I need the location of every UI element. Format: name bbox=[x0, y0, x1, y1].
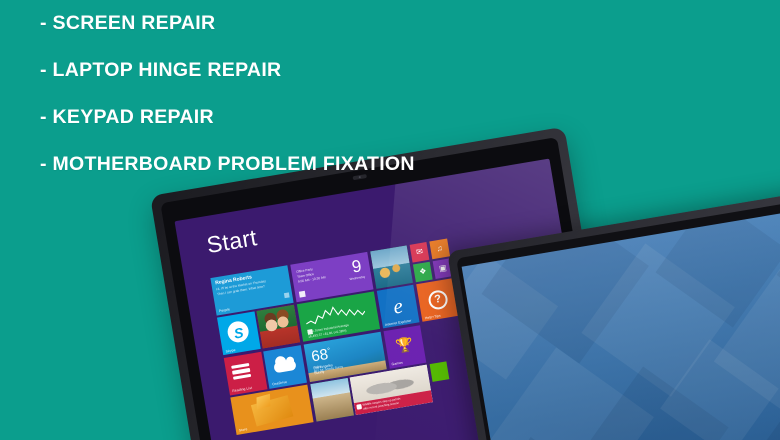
service-item-laptop-hinge-repair: - LAPTOP HINGE REPAIR bbox=[40, 61, 680, 81]
start-tile-grid: Regina Roberts Hi, I'll be at the Market… bbox=[210, 239, 473, 435]
tile-reading-list[interactable]: Reading List bbox=[224, 352, 267, 395]
tile-calendar-day-number: 9 bbox=[351, 257, 363, 275]
services-list: - SCREEN REPAIR - LAPTOP HINGE REPAIR - … bbox=[40, 14, 680, 202]
tile-onedrive-label: OneDrive bbox=[272, 380, 288, 386]
reading-list-icon bbox=[231, 363, 252, 382]
tile-skype-label: Skype bbox=[225, 348, 235, 354]
tile-games-label: Games bbox=[391, 361, 403, 367]
tile-photos[interactable] bbox=[370, 245, 413, 288]
tile-people-label: People bbox=[219, 308, 231, 314]
tile-internet-explorer[interactable]: e Internet Explorer bbox=[376, 285, 419, 328]
tile-bing[interactable] bbox=[310, 378, 353, 421]
tile-people-avatar-icon bbox=[284, 292, 290, 298]
tile-music-small[interactable]: ♫ bbox=[429, 239, 449, 259]
tile-calendar-day-of-week: Wednesday bbox=[349, 275, 365, 282]
degree-symbol: ° bbox=[327, 347, 331, 354]
tile-friends[interactable] bbox=[257, 305, 300, 348]
tile-lime-small[interactable] bbox=[429, 361, 449, 381]
tile-calendar-badge-icon bbox=[299, 291, 306, 298]
tile-ie-label: Internet Explorer bbox=[385, 318, 412, 326]
tile-skype[interactable]: S Skype bbox=[217, 312, 260, 355]
tile-photos-image bbox=[370, 245, 413, 288]
service-item-screen-repair: - SCREEN REPAIR bbox=[40, 14, 680, 34]
tile-games[interactable]: 🏆 Games bbox=[383, 325, 426, 368]
weather-temperature: 68° bbox=[310, 346, 332, 364]
game-controller-icon: ❖ bbox=[419, 267, 427, 276]
poster-canvas: - SCREEN REPAIR - LAPTOP HINGE REPAIR - … bbox=[0, 0, 780, 440]
tile-onedrive[interactable]: OneDrive bbox=[264, 345, 307, 388]
tile-mail-small[interactable]: ✉ bbox=[409, 242, 429, 262]
tile-xbox-small[interactable]: ❖ bbox=[413, 262, 433, 282]
news-logo-icon bbox=[356, 404, 362, 410]
tile-help-label: Help+Tips bbox=[424, 313, 441, 320]
tile-bing-image bbox=[310, 378, 353, 421]
cloud-icon bbox=[273, 359, 297, 373]
music-note-icon: ♫ bbox=[436, 244, 443, 253]
tile-reading-list-label: Reading List bbox=[232, 386, 252, 393]
tile-store-label: Store bbox=[239, 428, 248, 433]
apps-grid-icon: ▣ bbox=[438, 264, 447, 273]
internet-explorer-icon: e bbox=[391, 293, 404, 319]
question-mark-icon: ? bbox=[427, 288, 449, 310]
service-item-keypad-repair: - KEYPAD REPAIR bbox=[40, 108, 680, 128]
service-item-motherboard-fixation: - MOTHERBOARD PROBLEM FIXATION bbox=[40, 155, 680, 175]
shopping-bag-icon bbox=[251, 395, 293, 426]
start-label: Start bbox=[205, 224, 259, 259]
envelope-icon: ✉ bbox=[416, 248, 424, 257]
trophy-icon: 🏆 bbox=[395, 337, 415, 354]
tile-friends-image bbox=[257, 305, 300, 348]
